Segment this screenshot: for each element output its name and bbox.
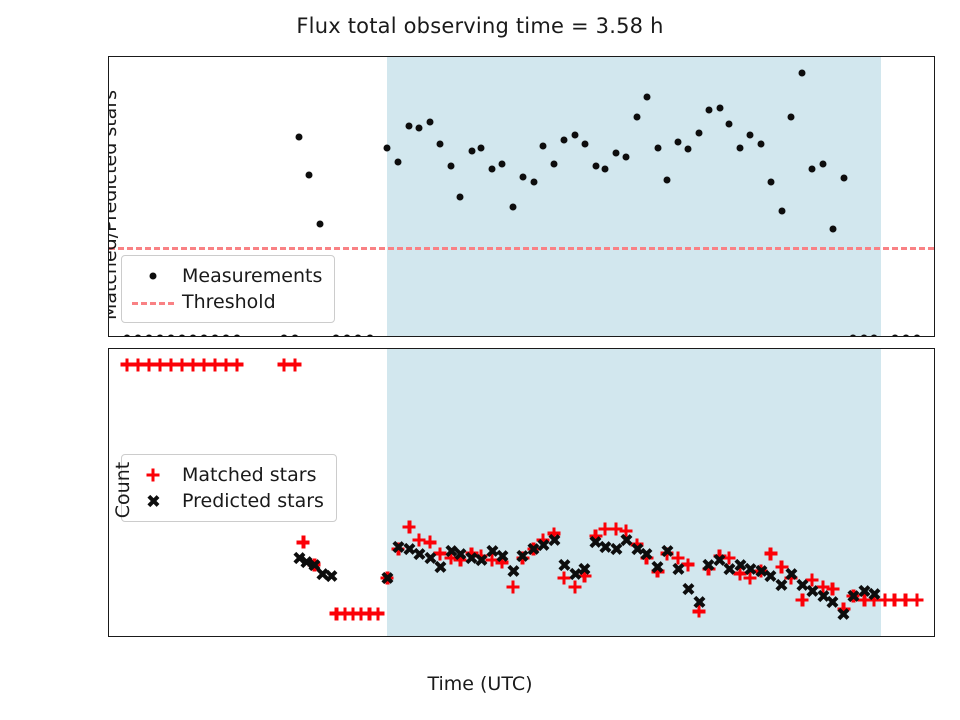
measurement-point <box>705 106 712 113</box>
measurement-point <box>509 204 516 211</box>
matched-star-point <box>909 593 924 608</box>
matched-star-point <box>505 579 520 594</box>
measurement-point <box>395 159 402 166</box>
measurement-point <box>519 173 526 180</box>
measurements-dot-icon <box>130 266 176 286</box>
figure-container: Flux total observing time = 3.58 h 0.00.… <box>0 0 960 720</box>
measurement-point <box>829 226 836 233</box>
measurement-point <box>592 162 599 169</box>
measurement-point <box>613 150 620 157</box>
x-tick-mark <box>199 636 200 637</box>
matched-plus-icon <box>130 465 176 485</box>
y-tick-mark <box>108 502 109 503</box>
predicted-star-point <box>494 548 509 563</box>
predicted-star-point <box>547 533 562 548</box>
legend-label-matched-stars: Matched stars <box>176 464 316 486</box>
measurement-point <box>489 166 496 173</box>
measurement-point <box>870 335 877 338</box>
predicted-star-point <box>380 570 395 585</box>
x-tick-mark <box>612 336 613 337</box>
bottom-panel-axes: 255075100125 16:0017:0018:0019:0020:0021… <box>108 348 935 637</box>
measurement-point <box>746 131 753 138</box>
legend-item-predicted-stars[interactable]: Predicted stars <box>130 488 324 514</box>
measurement-point <box>799 70 806 77</box>
measurement-point <box>840 175 847 182</box>
legend-label-predicted-stars: Predicted stars <box>176 490 324 512</box>
measurement-point <box>292 335 299 338</box>
x-tick-mark <box>336 336 337 337</box>
measurement-point <box>643 93 650 100</box>
legend-label-threshold: Threshold <box>176 291 276 313</box>
measurement-point <box>540 142 547 149</box>
measurement-point <box>416 124 423 131</box>
predicted-star-point <box>505 564 520 579</box>
measurement-point <box>498 160 505 167</box>
measurement-point <box>861 335 868 338</box>
measurement-point <box>406 122 413 129</box>
measurement-point <box>695 130 702 137</box>
measurement-point <box>757 141 764 148</box>
measurement-point <box>850 335 857 338</box>
legend-item-measurements[interactable]: Measurements <box>130 263 322 289</box>
measurement-point <box>716 104 723 111</box>
measurement-point <box>891 335 898 338</box>
measurement-point <box>457 193 464 200</box>
threshold-line <box>109 247 934 250</box>
measurement-point <box>355 335 362 338</box>
matched-star-point <box>230 357 245 372</box>
measurement-point <box>190 335 197 338</box>
measurement-point <box>427 119 434 126</box>
predicted-star-point <box>836 606 851 621</box>
x-tick-mark <box>888 336 889 337</box>
measurement-point <box>384 144 391 151</box>
measurement-point <box>581 141 588 148</box>
measurement-point <box>726 121 733 128</box>
predicted-star-point <box>432 559 447 574</box>
measurement-point <box>602 166 609 173</box>
measurement-point <box>902 335 909 338</box>
x-tick-mark <box>612 636 613 637</box>
bottom-panel-y-axis-label: Count <box>112 390 134 590</box>
predicted-star-point <box>866 586 881 601</box>
legend-item-matched-stars[interactable]: Matched stars <box>130 462 324 488</box>
measurement-point <box>436 141 443 148</box>
measurement-point <box>808 166 815 173</box>
figure-title: Flux total observing time = 3.58 h <box>0 14 960 38</box>
top-panel-y-axis-label: Matched/Predicted stars <box>108 56 121 337</box>
measurement-point <box>633 113 640 120</box>
measurement-point <box>664 177 671 184</box>
measurement-point <box>305 171 312 178</box>
measurement-point <box>684 146 691 153</box>
measurement-point <box>366 335 373 338</box>
measurement-point <box>913 335 920 338</box>
measurement-point <box>344 335 351 338</box>
measurement-point <box>478 144 485 151</box>
measurement-point <box>156 335 163 338</box>
measurement-point <box>316 220 323 227</box>
measurement-point <box>767 179 774 186</box>
matched-star-point <box>296 535 311 550</box>
measurement-point <box>179 335 186 338</box>
measurement-point <box>134 335 141 338</box>
measurement-point <box>201 335 208 338</box>
x-tick-mark <box>336 636 337 637</box>
measurement-point <box>560 137 567 144</box>
measurement-point <box>447 162 454 169</box>
measurement-point <box>168 335 175 338</box>
x-tick-mark <box>750 636 751 637</box>
measurement-point <box>675 139 682 146</box>
threshold-dash-icon <box>130 292 176 312</box>
measurement-point <box>551 160 558 167</box>
measurement-point <box>654 144 661 151</box>
matched-star-point <box>370 606 385 621</box>
measurement-point <box>778 208 785 215</box>
predicted-star-point <box>660 544 675 559</box>
x-tick-mark <box>474 636 475 637</box>
measurement-point <box>571 131 578 138</box>
matched-star-point <box>288 357 303 372</box>
measurement-point <box>622 153 629 160</box>
measurement-point <box>819 160 826 167</box>
predicted-star-point <box>577 562 592 577</box>
y-tick-mark <box>108 614 109 615</box>
x-tick-mark <box>750 336 751 337</box>
predicted-star-point <box>323 568 338 583</box>
bottom-panel-legend[interactable]: Matched stars Predicted stars <box>121 454 337 522</box>
measurement-point <box>468 148 475 155</box>
predicted-star-point <box>691 595 706 610</box>
measurement-point <box>234 335 241 338</box>
top-panel-legend[interactable]: Measurements Threshold <box>121 255 335 323</box>
top-panel-axes: 0.00.51.01.5 Measurements Threshold Matc… <box>108 56 935 337</box>
predicted-star-point <box>650 559 665 574</box>
measurement-point <box>223 335 230 338</box>
y-tick-mark <box>108 558 109 559</box>
measurement-point <box>788 113 795 120</box>
measurement-point <box>212 335 219 338</box>
measurement-point <box>123 335 130 338</box>
x-axis-label: Time (UTC) <box>0 673 960 695</box>
measurement-point <box>737 144 744 151</box>
x-tick-mark <box>888 636 889 637</box>
y-tick-mark <box>108 391 109 392</box>
predicted-cross-icon <box>130 491 176 511</box>
x-tick-mark <box>474 336 475 337</box>
measurement-point <box>296 133 303 140</box>
measurement-point <box>281 335 288 338</box>
legend-label-measurements: Measurements <box>176 265 322 287</box>
x-tick-mark <box>199 336 200 337</box>
measurement-point <box>530 179 537 186</box>
legend-item-threshold[interactable]: Threshold <box>130 289 322 315</box>
measurement-point <box>145 335 152 338</box>
predicted-star-point <box>671 562 686 577</box>
y-tick-mark <box>108 447 109 448</box>
